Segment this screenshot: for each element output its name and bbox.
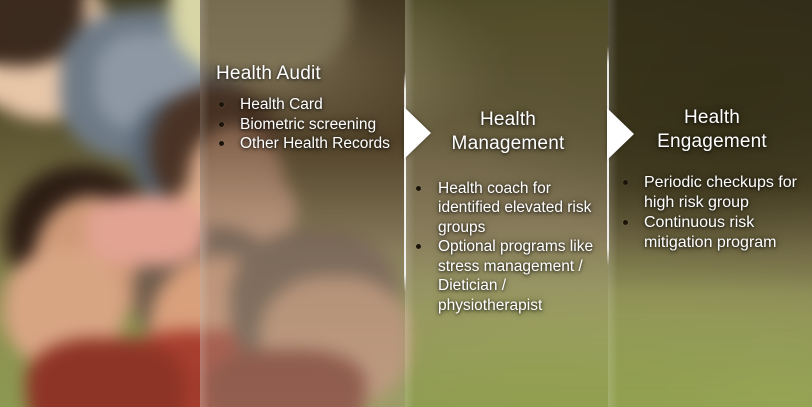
list-item: Biometric screening — [216, 115, 404, 135]
stage-health-management: Health Management Health coach for ident… — [408, 108, 608, 315]
stage-divider-rule-1 — [404, 72, 406, 292]
bullet-list-health-audit: Health Card Biometric screening Other He… — [216, 95, 404, 154]
stage-title-health-engagement: Health Engagement — [614, 106, 810, 155]
panel-seam — [200, 0, 210, 407]
list-item: Continuous risk mitigation program — [614, 213, 810, 253]
slide-canvas: Health Audit Health Card Biometric scree… — [0, 0, 812, 407]
list-item: Optional programs like stress management… — [408, 237, 608, 315]
stage-title-health-management: Health Management — [408, 108, 608, 157]
stage-title-health-audit: Health Audit — [216, 62, 404, 86]
bullet-list-health-management: Health coach for identified elevated ris… — [408, 179, 608, 316]
bullet-list-health-engagement: Periodic checkups for high risk group Co… — [614, 173, 810, 254]
list-item: Health coach for identified elevated ris… — [408, 179, 608, 238]
stage-health-audit: Health Audit Health Card Biometric scree… — [216, 62, 404, 154]
stage-health-engagement: Health Engagement Periodic checkups for … — [614, 106, 810, 253]
list-item: Health Card — [216, 95, 404, 115]
list-item: Other Health Records — [216, 134, 404, 154]
list-item: Periodic checkups for high risk group — [614, 173, 810, 213]
